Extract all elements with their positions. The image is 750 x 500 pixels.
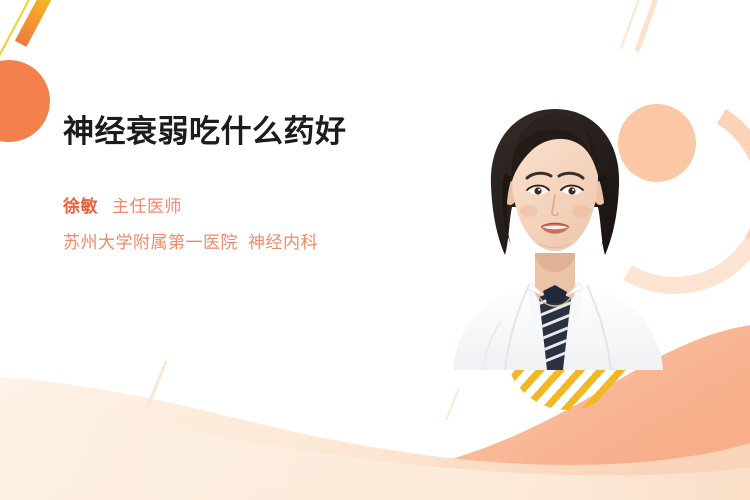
doctor-portrait bbox=[443, 85, 673, 370]
doctor-info-card: 神经衰弱吃什么药好 徐敏 主任医师 苏州大学附属第一医院神经内科 bbox=[0, 0, 750, 500]
page-title: 神经衰弱吃什么药好 bbox=[63, 112, 398, 153]
department-name: 神经内科 bbox=[248, 233, 318, 253]
orange-circle-icon bbox=[0, 60, 50, 142]
doctor-title: 主任医师 bbox=[112, 192, 182, 217]
doctor-name: 徐敏 bbox=[63, 192, 98, 217]
cream-stripe-thick-icon bbox=[634, 0, 659, 52]
diagonal-yellow-line-icon bbox=[0, 0, 35, 56]
doctor-byline: 徐敏 主任医师 bbox=[63, 192, 423, 217]
cream-stripe-thin-icon bbox=[620, 0, 641, 49]
hospital-name: 苏州大学附属第一医院 bbox=[63, 233, 238, 253]
diagonal-orange-bar-icon bbox=[15, 0, 56, 47]
doctor-affiliation: 苏州大学附属第一医院神经内科 bbox=[63, 228, 423, 253]
text-block: 神经衰弱吃什么药好 徐敏 主任医师 苏州大学附属第一医院神经内科 bbox=[63, 112, 423, 253]
